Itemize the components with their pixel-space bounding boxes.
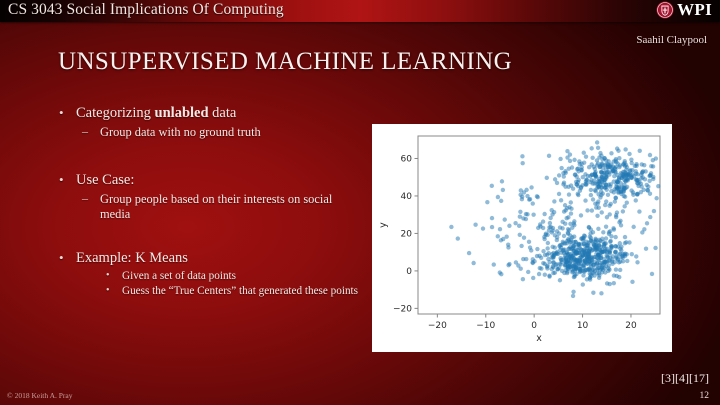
bullet-marker: •	[106, 284, 110, 297]
svg-text:−20: −20	[393, 305, 412, 315]
bullet-text: Given a set of data points	[122, 270, 236, 282]
svg-text:10: 10	[577, 321, 589, 331]
bullet-level1: •Use Case:	[56, 171, 361, 189]
svg-text:20: 20	[401, 230, 413, 240]
wpi-logo: WPI	[656, 1, 712, 19]
bullet-text-bold: unlabled	[155, 105, 209, 121]
bullet-level2: –Group people based on their interests o…	[56, 192, 361, 222]
scatter-plot-svg: −20−1001020−200204060xy	[372, 124, 672, 352]
svg-text:y: y	[378, 222, 389, 228]
bullet-marker: •	[59, 104, 64, 122]
bullet-text: Guess the “True Centers” that generated …	[122, 285, 358, 297]
course-title: CS 3043 Social Implications Of Computing	[8, 1, 284, 19]
wpi-seal-icon	[656, 1, 674, 19]
bullet-text: Group data with no ground truth	[100, 125, 261, 139]
bullet-text: Use Case:	[76, 172, 134, 188]
bullet-text-tail: data	[209, 105, 237, 121]
bullet-marker: •	[106, 269, 110, 282]
svg-text:0: 0	[406, 267, 412, 277]
bullet-level3: •Guess the “True Centers” that generated…	[56, 285, 361, 298]
bullet-marker: •	[59, 249, 64, 267]
page-title: UNSUPERVISED MACHINE LEARNING	[58, 48, 512, 76]
bullet-text: Categorizing	[76, 105, 155, 121]
scatter-plot-image: −20−1001020−200204060xy	[372, 124, 672, 352]
bullet-level3: •Given a set of data points	[56, 270, 361, 283]
spacer	[56, 141, 361, 171]
slide-canvas: CS 3043 Social Implications Of Computing…	[0, 0, 720, 405]
svg-text:20: 20	[625, 321, 637, 331]
svg-text:−20: −20	[428, 321, 447, 331]
bullet-list: •Categorizing unlabled data –Group data …	[56, 104, 361, 301]
bullet-text: Example: K Means	[76, 250, 188, 266]
bullet-level2: –Group data with no ground truth	[56, 125, 361, 140]
copyright-text: © 2018 Keith A. Pray	[7, 391, 73, 400]
svg-text:0: 0	[531, 321, 537, 331]
bullet-text: Group people based on their interests on…	[100, 192, 332, 221]
svg-text:−10: −10	[476, 321, 495, 331]
svg-text:60: 60	[401, 155, 413, 165]
spacer	[56, 223, 361, 249]
svg-text:x: x	[536, 333, 542, 344]
wpi-wordmark: WPI	[677, 1, 712, 19]
bullet-marker: •	[59, 171, 64, 189]
bullet-level1: •Categorizing unlabled data	[56, 104, 361, 122]
bullet-marker: –	[82, 124, 88, 139]
bullet-level1: •Example: K Means	[56, 249, 361, 267]
author-name: Saahil Claypool	[636, 34, 707, 46]
header-bar: CS 3043 Social Implications Of Computing…	[0, 0, 720, 22]
bullet-marker: –	[82, 191, 88, 206]
svg-text:40: 40	[401, 192, 413, 202]
references-text: [3][4][17]	[661, 371, 709, 386]
page-number: 12	[700, 391, 710, 401]
